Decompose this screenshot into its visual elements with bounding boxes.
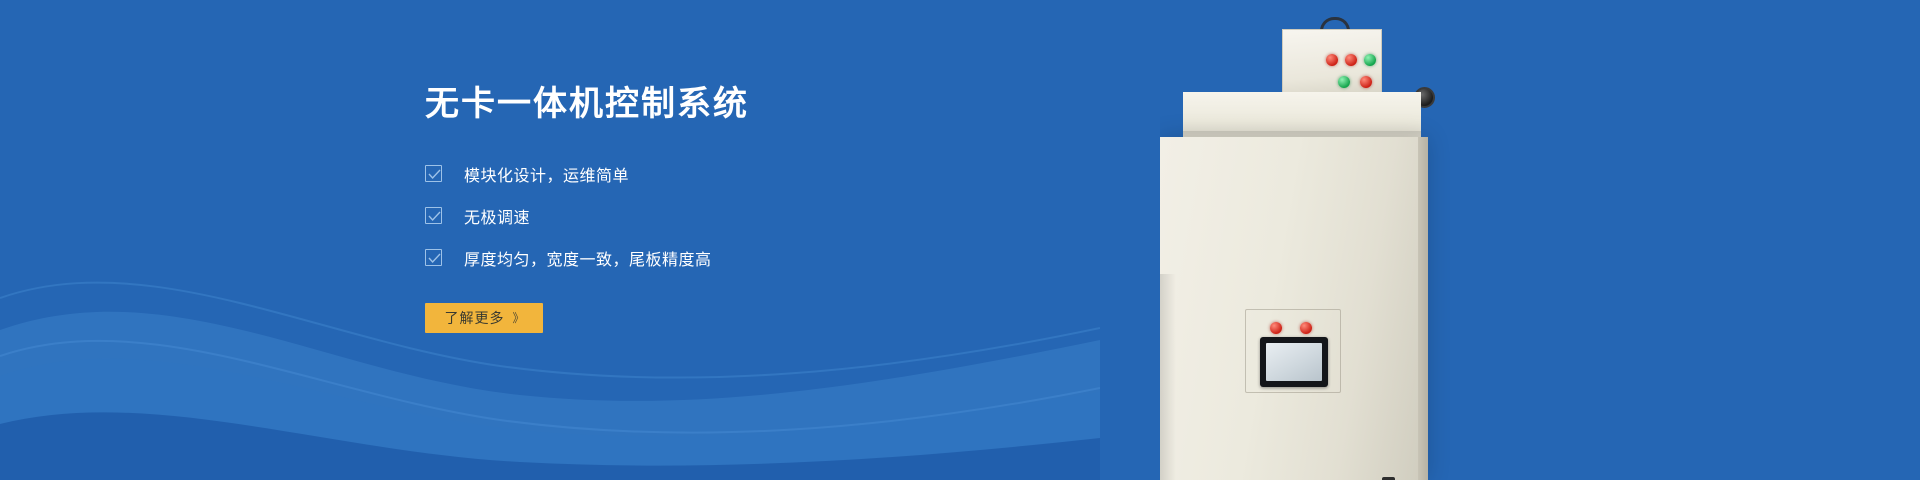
wave-shape-3 [0,312,1100,480]
feature-label: 无极调速 [464,204,530,228]
hero-content: 无卡一体机控制系统 模块化设计，运维简单 无极调速 [425,84,985,333]
feature-item: 无极调速 [425,205,985,227]
checkbox-check-icon [425,207,442,224]
panel-lamp-red-1[interactable] [1270,322,1282,334]
wave-shape-2 [0,412,1100,480]
cabinet-body [1160,137,1427,480]
checkbox-check-icon [425,249,442,266]
feature-label: 模块化设计，运维简单 [464,162,629,186]
feature-item: 模块化设计，运维简单 [425,163,985,185]
control-cabinet-photo [1160,0,1920,480]
cabinet-left-shading [1160,274,1176,480]
wave-shape-1 [0,359,1100,480]
lamp-red-2[interactable] [1345,54,1357,66]
panel-lamp-row [1270,322,1318,334]
feature-item: 厚度均匀，宽度一致，尾板精度高 [425,247,985,269]
lamp-green-1[interactable] [1364,54,1376,66]
lamp-green-2[interactable] [1338,76,1350,88]
lamp-red-1[interactable] [1326,54,1338,66]
panel-lamp-red-2[interactable] [1300,322,1312,334]
checkbox-check-icon [425,165,442,182]
page-title: 无卡一体机控制系统 [425,84,985,125]
learn-more-label: 了解更多 [444,308,504,328]
hmi-touchscreen[interactable] [1260,337,1328,387]
control-head-panel [1282,29,1382,95]
feature-label: 厚度均匀，宽度一致，尾板精度高 [464,246,712,270]
lamp-red-3[interactable] [1360,76,1372,88]
hero-banner: 无卡一体机控制系统 模块化设计，运维简单 无极调速 [0,0,1920,480]
cabinet-door-edge [1418,137,1428,480]
hmi-screen-glass [1266,343,1322,381]
feature-list: 模块化设计，运维简单 无极调速 厚度均匀，宽度一致，尾板精度高 [425,163,985,269]
learn-more-button[interactable]: 了解更多 》 [425,303,543,333]
chevron-right-icon: 》 [512,309,523,326]
wave-line-2 [0,341,1100,433]
